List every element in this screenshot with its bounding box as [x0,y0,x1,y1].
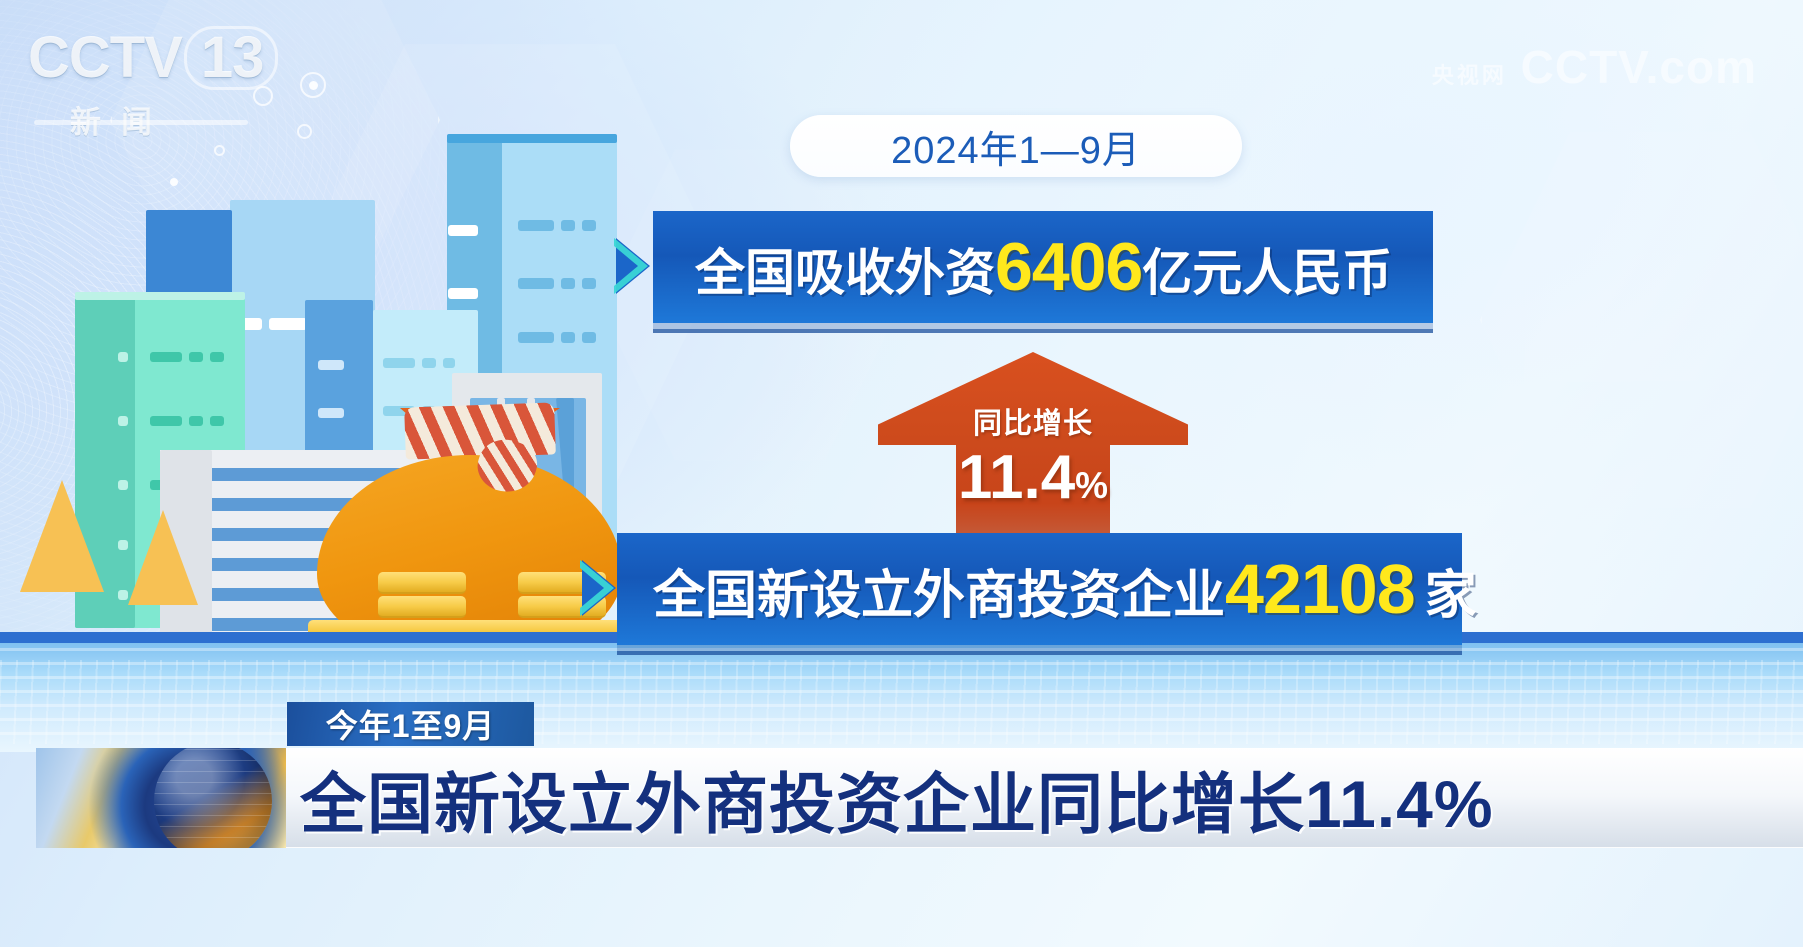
growth-arrow-callout: 同比增长 11.4% [878,352,1188,552]
watermark-sub-text: 央视网 [1432,63,1507,88]
logo-channel-number: 13 [184,26,279,90]
stat-1-prefix: 全国吸收外资 [695,245,995,301]
stat-1-value: 6406 [995,229,1142,305]
ground-wave [0,660,1803,744]
stat-bar-2-content: 全国新设立外商投资企业42108家 [617,554,1477,624]
tree [128,510,198,605]
tree [20,480,104,592]
cctv-com-watermark: 央视网 CCTV.com [1432,40,1757,94]
globe-sphere [154,748,272,848]
stat-bar-1-content: 全国吸收外资6406亿元人民币 [653,233,1392,301]
growth-unit: % [1075,465,1108,506]
growth-value-group: 11.4% [878,447,1188,509]
chevron-right-icon [578,558,620,618]
lower-third-tag-text: 今年1至9月 [326,701,496,747]
stat-bar-foreign-investment: 全国吸收外资6406亿元人民币 [653,211,1433,323]
logo-cctv-text: CCTV [28,25,182,90]
building-roof [447,134,617,143]
logo-underline [34,120,248,125]
stat-1-suffix: 亿元人民币 [1142,245,1392,301]
building-roof [75,292,245,300]
lower-third-headline: 全国新设立外商投资企业同比增长11.4% [300,752,1780,846]
globe-icon [36,748,286,848]
stat-2-suffix: 家 [1425,567,1477,625]
watermark-main-text: CCTV.com [1521,41,1757,93]
date-range-pill: 2024年1—9月 [790,115,1242,177]
stat-bar-new-enterprises: 全国新设立外商投资企业42108家 [617,533,1462,645]
lower-third-tag: 今年1至9月 [287,702,534,746]
stat-2-value: 42108 [1225,550,1415,628]
growth-label: 同比增长 [878,400,1188,442]
chevron-right-icon [612,236,654,296]
growth-value: 11.4 [958,443,1075,512]
globe-grid [154,748,272,848]
date-range-text: 2024年1—9月 [891,119,1141,174]
stat-2-prefix: 全国新设立外商投资企业 [653,567,1225,625]
cctv13-logo: CCTV13 新闻 [28,26,296,136]
broadcast-frame: CCTV13 新闻 央视网 CCTV.com [0,0,1803,947]
